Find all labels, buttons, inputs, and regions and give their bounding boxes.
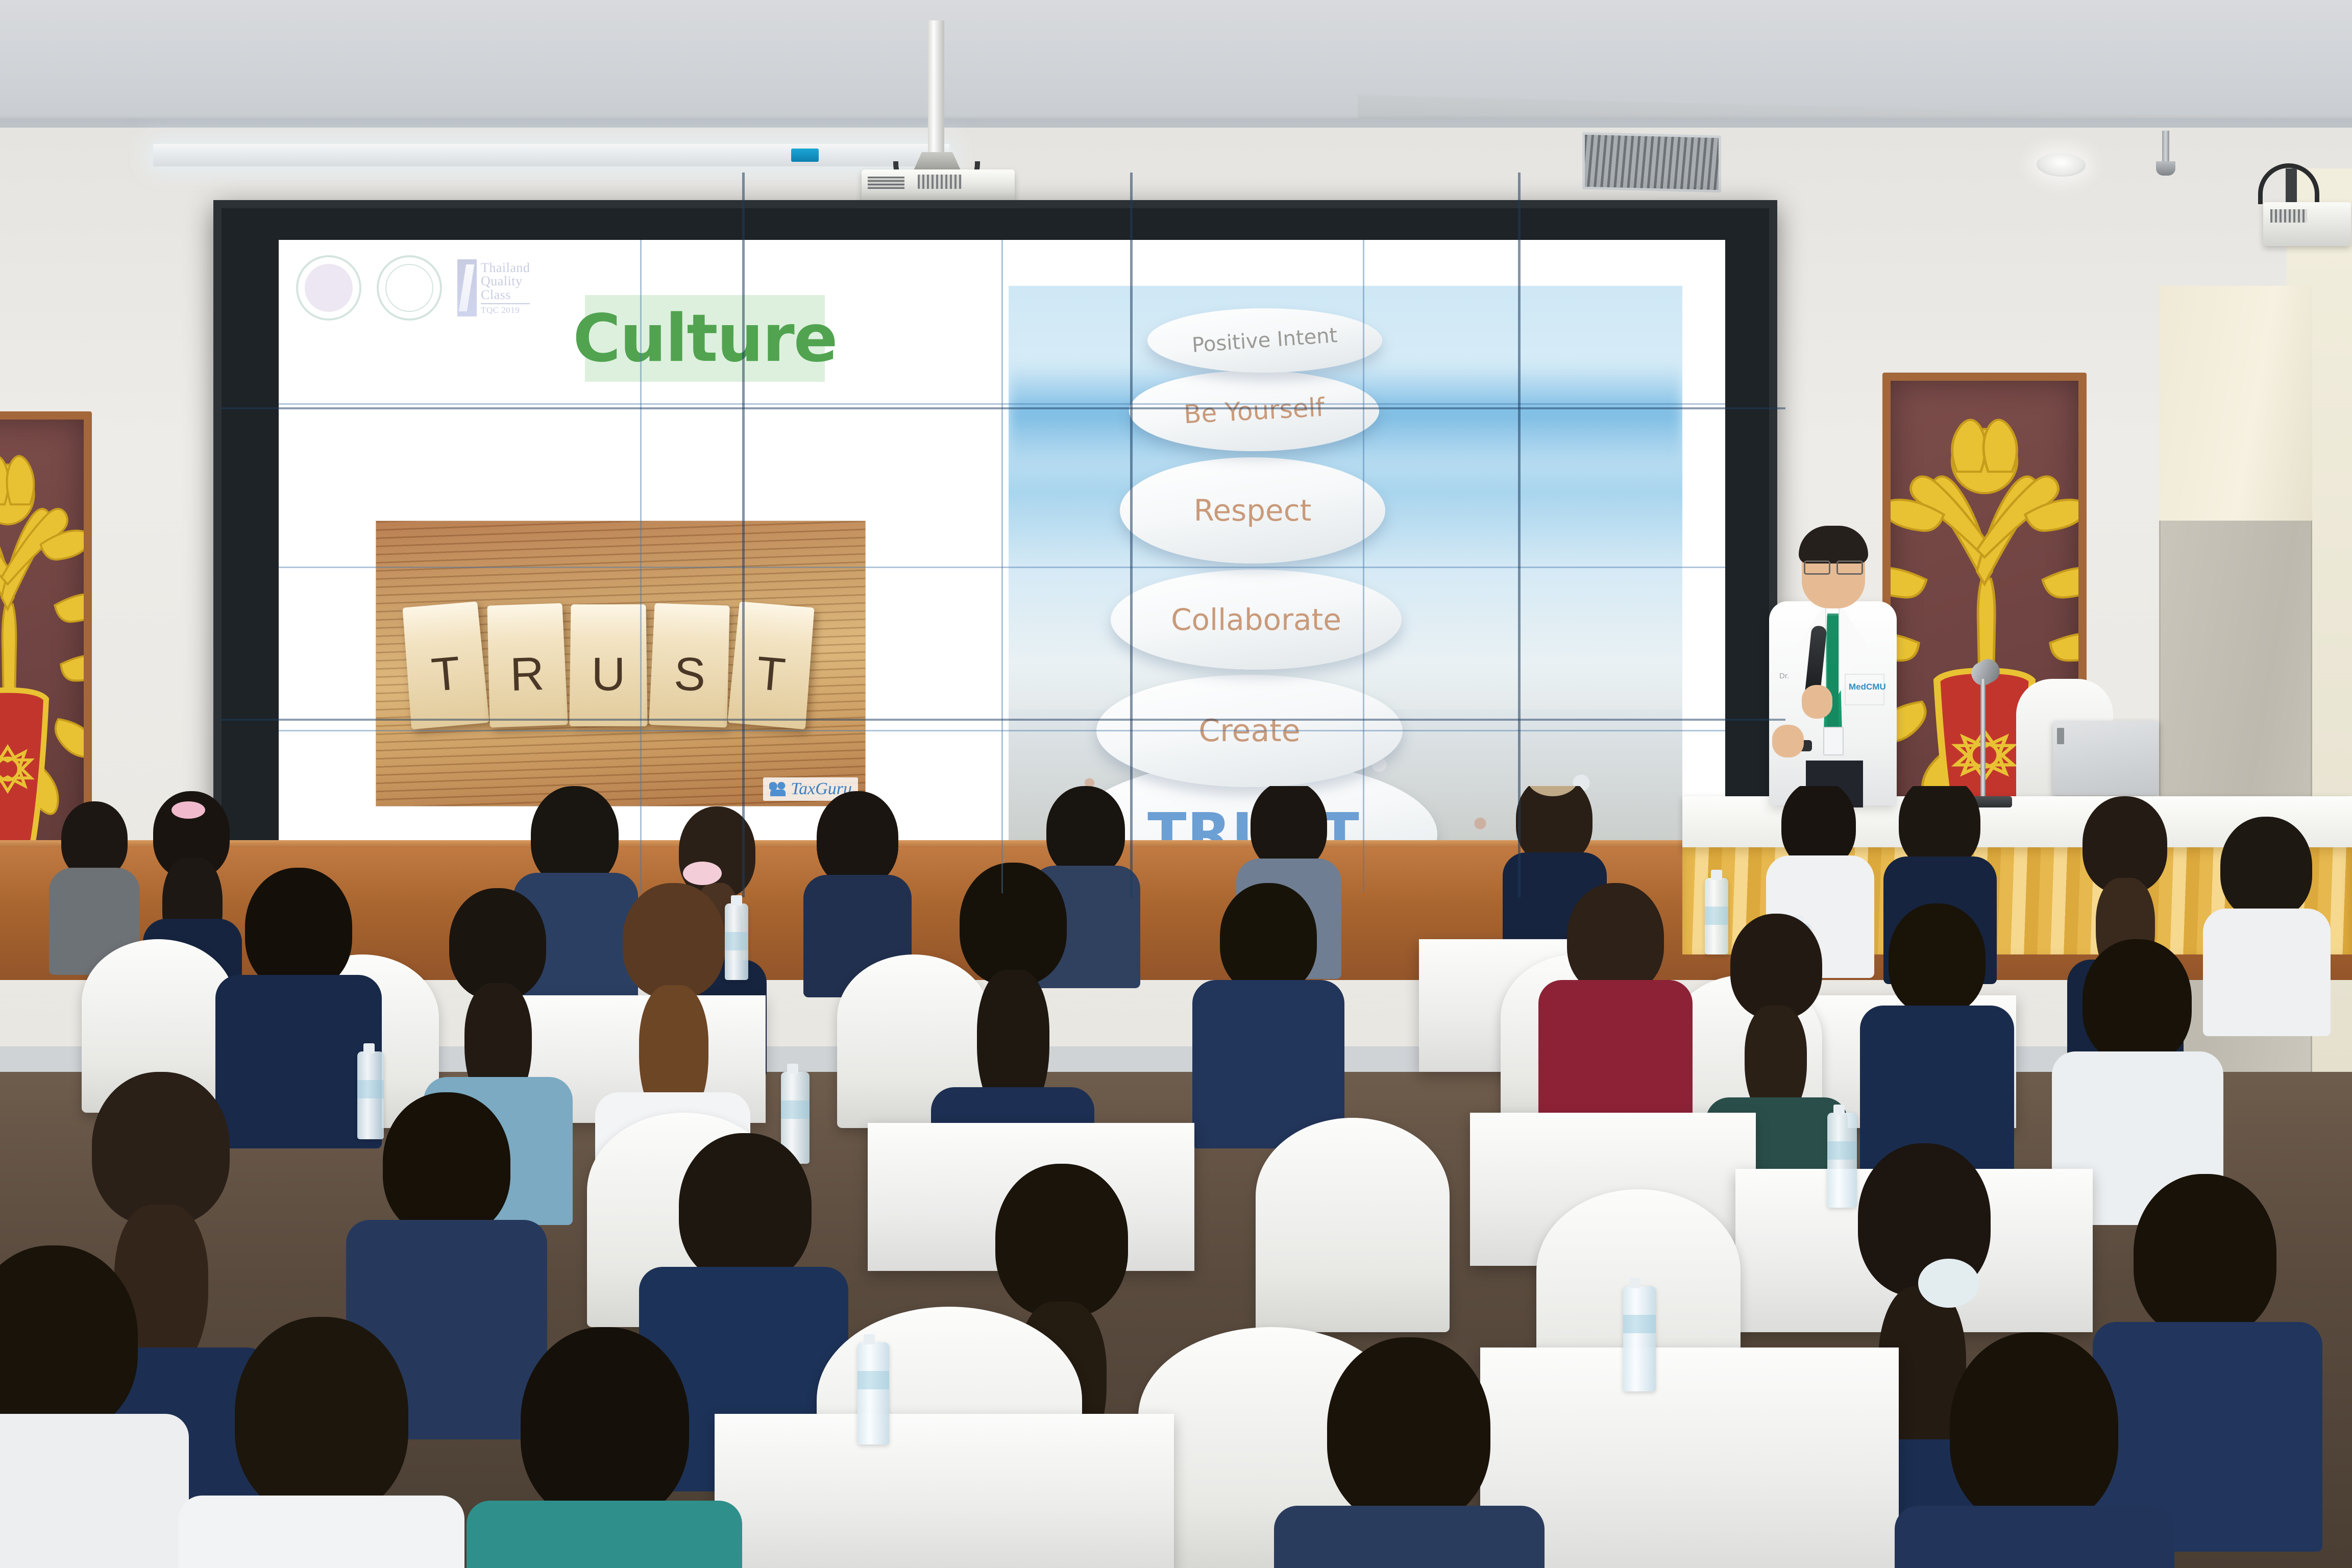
person-head (1046, 786, 1125, 876)
slide-title-culture: Culture (585, 295, 825, 382)
slide-logo-row: Thailand Quality Class TQC 2019 (296, 255, 530, 321)
water-bottle[interactable] (725, 903, 748, 980)
presenter-laptop[interactable] (2053, 721, 2159, 795)
person-head (521, 1327, 689, 1521)
audience-table (715, 1414, 1174, 1568)
trust-letter-blocks: T R U S T (407, 603, 810, 725)
person-head (1950, 1332, 2118, 1526)
trust-wooden-blocks-photo: T R U S T TaxGuru (376, 521, 866, 806)
person-torso (0, 1414, 189, 1568)
person-head (817, 791, 898, 886)
water-bottle[interactable] (1623, 1286, 1656, 1391)
speaker-id-badge (1823, 727, 1844, 755)
stone-label: Be Yourself (1183, 393, 1326, 429)
speaker-hand-left (1802, 685, 1832, 719)
slide-title-text: Culture (573, 301, 837, 377)
stone-respect: Respect (1120, 457, 1385, 563)
projector-right-arm (2286, 168, 2297, 204)
speaker-lanyard (1827, 614, 1839, 736)
person-torso (1274, 1506, 1545, 1568)
stone-collaborate: Collaborate (1111, 570, 1402, 670)
conference-hall-photo: Thailand Quality Class TQC 2019 Culture (0, 0, 2352, 1568)
person-torso (179, 1496, 464, 1568)
person-head (1889, 903, 1986, 1015)
person-head (245, 868, 352, 990)
person-head (995, 1164, 1128, 1317)
letter-block: T (402, 601, 489, 729)
fire-sprinkler-head (2162, 131, 2169, 176)
person-head (383, 1092, 510, 1236)
person-head (92, 1072, 230, 1225)
person-head (61, 801, 128, 878)
person-head (1567, 883, 1664, 994)
person-head (960, 863, 1067, 985)
letter-block: R (487, 603, 568, 728)
right-wall-upper-panel (2159, 286, 2312, 526)
person-torso (1895, 1506, 2174, 1568)
letter-block: T (727, 601, 814, 729)
person-head (2220, 817, 2312, 919)
person-torso (2203, 909, 2331, 1036)
letter-block: S (649, 603, 729, 728)
thailand-quality-class-logo-icon: Thailand Quality Class TQC 2019 (457, 259, 530, 316)
stone-create: Create (1096, 675, 1403, 787)
stone-label: Positive Intent (1191, 324, 1338, 357)
person-head (623, 883, 725, 998)
person-head (2134, 1174, 2276, 1337)
person-head (531, 786, 619, 886)
person-head (1327, 1337, 1490, 1524)
ceiling-projector-right (2255, 153, 2352, 260)
faculty-of-medicine-seal-icon (377, 255, 442, 321)
ceiling-projector (837, 20, 1051, 219)
water-bottle[interactable] (357, 1051, 384, 1139)
projector-pole (928, 20, 944, 159)
projector-right-body (2263, 202, 2351, 246)
speaker-hand-right (1772, 725, 1804, 757)
ceiling-air-vent (1582, 132, 1721, 193)
person-head (2082, 939, 2192, 1064)
person-head (1730, 914, 1822, 1019)
tqc-line-2: Quality (481, 275, 530, 288)
stone-label: Collaborate (1171, 602, 1341, 637)
tqc-line-3: Class (481, 288, 530, 302)
fluorescent-batten-light (153, 144, 949, 166)
stone-positive-intent: Positive Intent (1147, 308, 1382, 373)
water-bottle[interactable] (857, 1342, 889, 1444)
hair-clip (171, 801, 205, 819)
audience-seating-area (0, 786, 2352, 1568)
tqc-line-1: Thailand (481, 261, 530, 275)
stone-be-yourself: Be Yourself (1129, 371, 1379, 451)
letter-block: U (569, 604, 647, 726)
hair-scrunchie (1918, 1259, 1979, 1308)
chair-white-cover (1256, 1118, 1450, 1332)
stone-label: Respect (1194, 493, 1312, 528)
speaker-name-embroidery: Dr. (1779, 672, 1789, 680)
chiang-mai-university-seal-icon (296, 255, 361, 321)
speaker-glasses-icon (1804, 560, 1863, 572)
speaker-coat-logo: MedCMU (1849, 682, 1886, 692)
water-bottle[interactable] (1705, 878, 1728, 954)
tqc-line-4: TQC 2019 (481, 303, 530, 314)
person-head (679, 1133, 812, 1283)
person-head (1220, 883, 1317, 993)
stone-label: Create (1198, 713, 1300, 749)
hair-scrunchie (683, 862, 722, 885)
speaker-hair (1799, 526, 1868, 563)
presenter-speaker: MedCMU Dr. (1751, 521, 1914, 806)
person-head (1251, 786, 1327, 870)
person-torso (467, 1501, 742, 1568)
water-bottle[interactable] (1827, 1113, 1857, 1208)
person-head (235, 1317, 408, 1516)
